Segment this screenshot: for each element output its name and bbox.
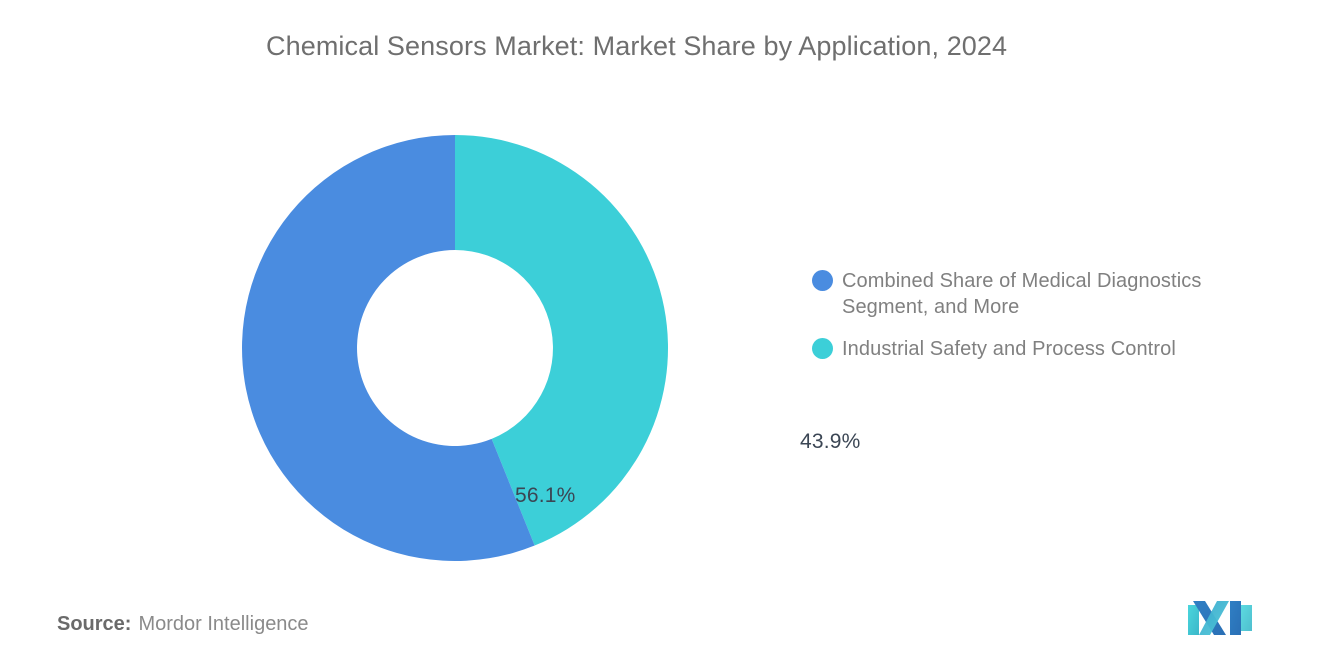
legend-item-label: Industrial Safety and Process Control <box>842 336 1176 362</box>
logo-svg <box>1186 597 1254 637</box>
source-label: Source: <box>57 613 131 635</box>
legend-item-industrial-safety[interactable]: Industrial Safety and Process Control <box>812 336 1282 362</box>
mordor-intelligence-logo-icon <box>1186 597 1254 637</box>
slice-value-label-industrial-safety: 43.9% <box>800 430 861 454</box>
donut-chart: 56.1% 43.9% <box>242 135 668 561</box>
legend-swatch-icon-teal <box>812 338 833 359</box>
donut-chart-svg <box>242 135 668 561</box>
legend-item-label: Combined Share of Medical Diagnostics Se… <box>842 268 1252 320</box>
slice-value-label-medical-diagnostics: 56.1% <box>515 484 576 508</box>
legend-swatch-icon-blue <box>812 270 833 291</box>
source-value: Mordor Intelligence <box>138 613 308 635</box>
legend-item-medical-diagnostics[interactable]: Combined Share of Medical Diagnostics Se… <box>812 268 1282 320</box>
source-attribution: Source:Mordor Intelligence <box>57 613 309 636</box>
chart-legend: Combined Share of Medical Diagnostics Se… <box>812 268 1282 378</box>
page-title: Chemical Sensors Market: Market Share by… <box>266 31 1166 62</box>
